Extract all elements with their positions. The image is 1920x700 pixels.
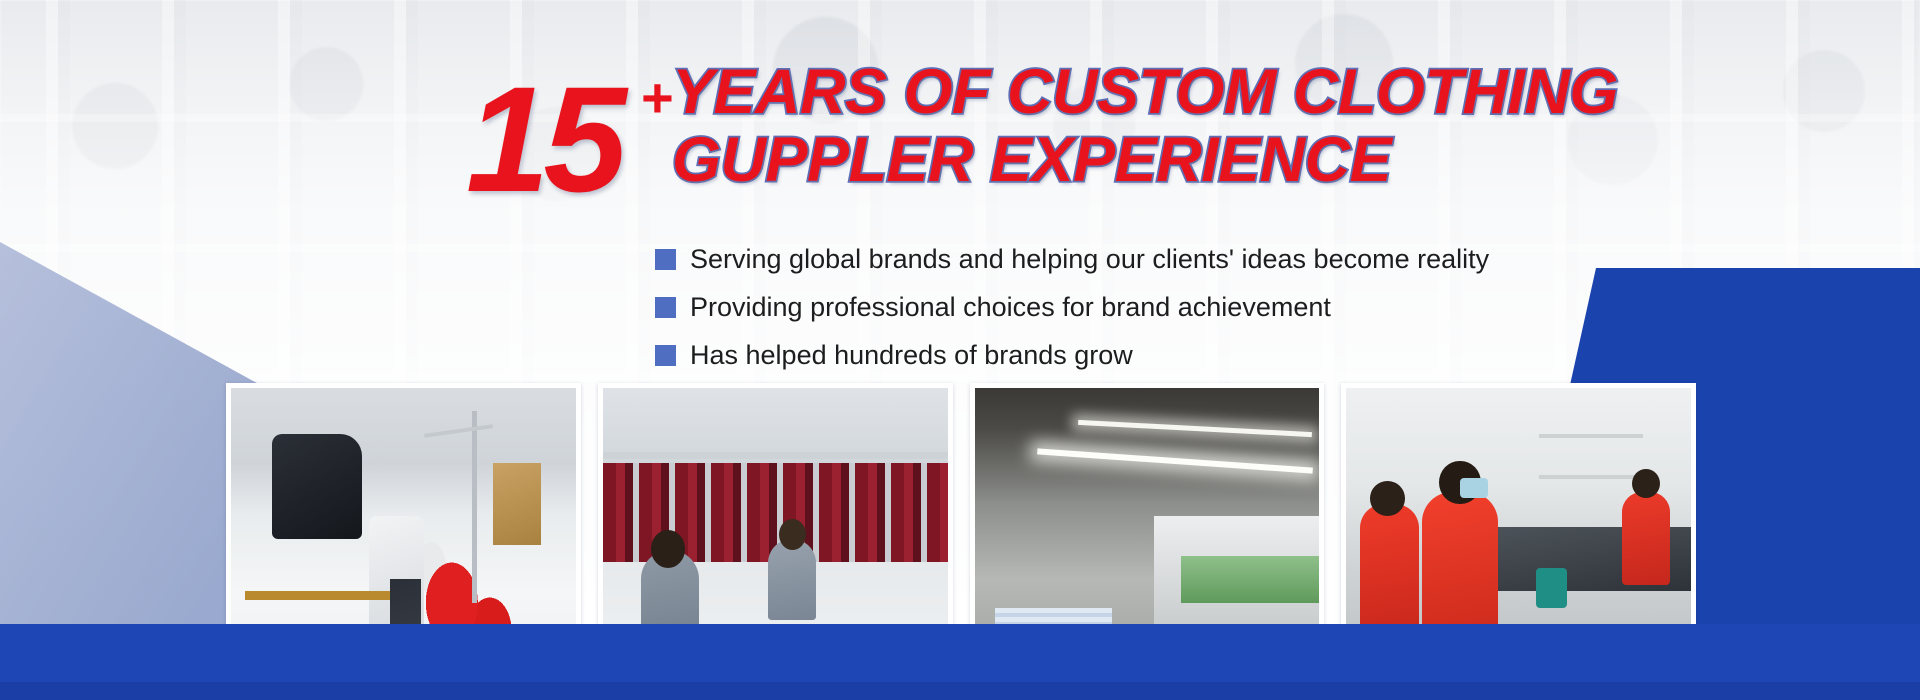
photo2-worker-foreground-head xyxy=(651,530,685,568)
photo2-overhead-rail xyxy=(603,452,948,459)
feature-bullet-list: Serving global brands and helping our cl… xyxy=(655,235,1655,379)
bottom-blue-bar-shade xyxy=(0,682,1920,700)
bullet-label: Serving global brands and helping our cl… xyxy=(690,243,1489,275)
photo4-cutting-tool xyxy=(1536,568,1567,609)
photo4-shelf-upper xyxy=(1539,434,1642,438)
photo4-worker-right xyxy=(1622,492,1670,585)
photo1-table-edge xyxy=(245,591,390,600)
headline-lines: YEARS OF CUSTOM CLOTHING GUPPLER EXPERIE… xyxy=(672,62,1832,191)
list-item: Providing professional choices for brand… xyxy=(655,283,1655,331)
photo3-light-tube-lower xyxy=(1037,448,1313,473)
photo4-face-mask xyxy=(1460,478,1488,498)
photo2-worker-background xyxy=(768,539,816,620)
list-item: Has helped hundreds of brands grow xyxy=(655,331,1655,379)
photo4-shelf-lower xyxy=(1539,475,1642,479)
photo1-thread-pole xyxy=(472,411,477,602)
photo4-worker-left xyxy=(1360,504,1419,632)
photo3-green-pads xyxy=(1181,556,1319,602)
headline-line-1: YEARS OF CUSTOM CLOTHING xyxy=(672,62,1832,124)
years-number: 15 xyxy=(466,64,621,214)
photo3-light-tube-upper xyxy=(1078,420,1312,437)
bullet-label: Has helped hundreds of brands grow xyxy=(690,339,1133,371)
photo1-cardboard-bin xyxy=(493,463,541,544)
photo4-worker-center xyxy=(1422,492,1498,643)
list-item: Serving global brands and helping our cl… xyxy=(655,235,1655,283)
headline-line-2: GUPPLER EXPERIENCE xyxy=(672,130,1832,192)
square-bullet-icon xyxy=(655,297,676,318)
square-bullet-icon xyxy=(655,249,676,270)
headline-block: 15 + YEARS OF CUSTOM CLOTHING GUPPLER EX… xyxy=(0,34,1920,194)
photo1-dark-chair xyxy=(272,434,362,538)
photo1-thread-arm xyxy=(424,424,493,438)
promo-banner: 15 + YEARS OF CUSTOM CLOTHING GUPPLER EX… xyxy=(0,0,1920,700)
plus-superscript: + xyxy=(640,70,673,126)
bullet-label: Providing professional choices for brand… xyxy=(690,291,1331,323)
photo4-worker-right-head xyxy=(1632,469,1660,498)
photo4-worker-left-head xyxy=(1370,481,1404,516)
square-bullet-icon xyxy=(655,345,676,366)
